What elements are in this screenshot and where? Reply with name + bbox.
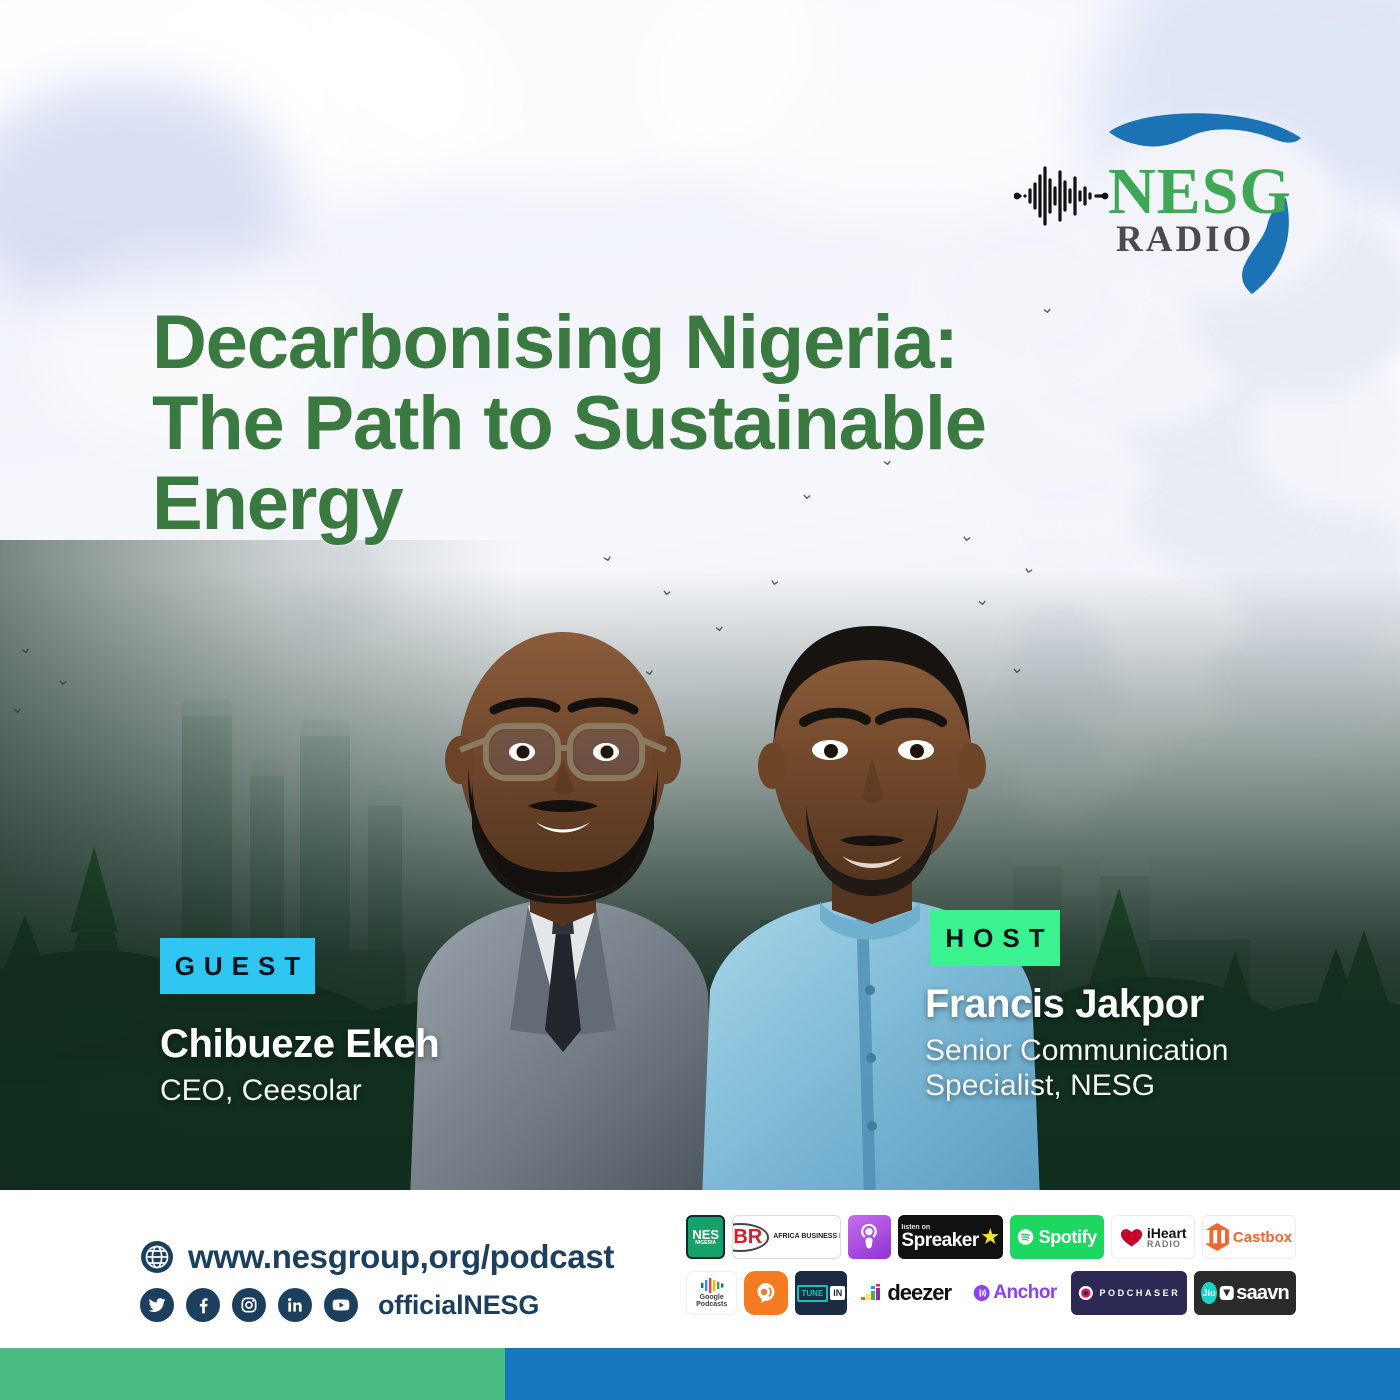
tunein-in: IN (830, 1286, 845, 1300)
guest-badge: GUEST (160, 938, 315, 994)
tunein-text: TUNE (797, 1285, 829, 1302)
iheart-icon (1119, 1226, 1144, 1248)
hero-artwork: ⌄ ⌄ ⌄ ⌄ ⌄ ⌄ ⌄ ⌄ ⌄ ⌄ ⌄ ⌄ ⌄ ⌄ ⌄ ⌄ (0, 0, 1400, 1190)
platform-google-podcasts[interactable]: Google Podcasts (686, 1271, 737, 1315)
host-role-line-1: Senior Communication (925, 1033, 1228, 1068)
host-badge: HOST (930, 910, 1060, 966)
footer: www.nesgroup,org/podcast officia (0, 1190, 1400, 1348)
twitter-icon[interactable] (140, 1288, 174, 1322)
platform-deezer[interactable]: deezer (854, 1271, 959, 1315)
podcast-platforms: NES NIGERIA ABR AFRICA BUSINESS RADIO (686, 1212, 1296, 1324)
saavn-mark-icon (1219, 1282, 1234, 1304)
website-url: www.nesgroup,org/podcast (188, 1238, 614, 1276)
platform-anchor[interactable]: Anchor (966, 1271, 1064, 1315)
bottom-color-bar (0, 1348, 1400, 1400)
platform-apple-podcasts[interactable] (848, 1215, 891, 1259)
contact-block: www.nesgroup,org/podcast officia (140, 1238, 614, 1322)
podcast-addict-icon (753, 1280, 779, 1306)
social-row: officialNESG (140, 1288, 614, 1322)
title-line-3: Energy (152, 464, 1052, 545)
guest-role: CEO, Ceesolar (160, 1073, 362, 1108)
linkedin-icon[interactable] (278, 1288, 312, 1322)
nesg-radio-logo: NESG RADIO (1010, 108, 1300, 293)
platform-castbox[interactable]: ▌▌▌ Castbox (1202, 1215, 1296, 1259)
platform-spreaker[interactable]: listen on Spreaker ★ (898, 1215, 1003, 1259)
logo-radio-text: RADIO (1116, 218, 1254, 261)
google-podcasts-icon (700, 1278, 724, 1293)
platform-row-2: Google Podcasts TUNE IN (686, 1268, 1296, 1318)
platform-nes[interactable]: NES NIGERIA (686, 1215, 725, 1259)
platform-spotify[interactable]: Spotify (1010, 1215, 1104, 1259)
guest-name: Chibueze Ekeh (160, 1022, 439, 1067)
host-name: Francis Jakpor (925, 982, 1204, 1027)
apple-podcasts-icon (856, 1222, 882, 1252)
jio-icon: Jio (1201, 1282, 1216, 1304)
deezer-icon (861, 1284, 883, 1302)
title-line-1: Decarbonising Nigeria: (152, 303, 1052, 384)
instagram-icon[interactable] (232, 1288, 266, 1322)
bottom-bar-blue (505, 1348, 1400, 1400)
platform-podchaser[interactable]: PODCHASER (1071, 1271, 1188, 1315)
facebook-icon[interactable] (186, 1288, 220, 1322)
podchaser-icon (1078, 1283, 1094, 1303)
platform-row-1: NES NIGERIA ABR AFRICA BUSINESS RADIO (686, 1212, 1296, 1262)
podcast-episode-poster: ⌄ ⌄ ⌄ ⌄ ⌄ ⌄ ⌄ ⌄ ⌄ ⌄ ⌄ ⌄ ⌄ ⌄ ⌄ ⌄ (0, 0, 1400, 1400)
platform-podcast-addict[interactable] (744, 1271, 788, 1315)
spotify-icon (1017, 1225, 1034, 1249)
platform-abr[interactable]: ABR AFRICA BUSINESS RADIO (732, 1215, 841, 1259)
bottom-bar-green (0, 1348, 505, 1400)
castbox-icon: ▌▌▌ (1206, 1223, 1229, 1251)
platform-jiosaavn[interactable]: Jio saavn (1194, 1271, 1296, 1315)
episode-title: Decarbonising Nigeria: The Path to Susta… (152, 303, 1052, 545)
title-line-2: The Path to Sustainable (152, 384, 1052, 465)
platform-iheart-radio[interactable]: iHeart RADIO (1111, 1215, 1195, 1259)
youtube-icon[interactable] (324, 1288, 358, 1322)
social-handle: officialNESG (378, 1290, 539, 1321)
host-role-line-2: Specialist, NESG (925, 1068, 1228, 1103)
platform-tunein[interactable]: TUNE IN (795, 1271, 846, 1315)
website-row[interactable]: www.nesgroup,org/podcast (140, 1238, 614, 1276)
globe-icon (140, 1240, 174, 1274)
audio-waveform-icon (1014, 166, 1110, 226)
star-icon: ★ (982, 1226, 999, 1249)
host-role: Senior Communication Specialist, NESG (925, 1033, 1228, 1104)
anchor-icon (973, 1281, 990, 1305)
